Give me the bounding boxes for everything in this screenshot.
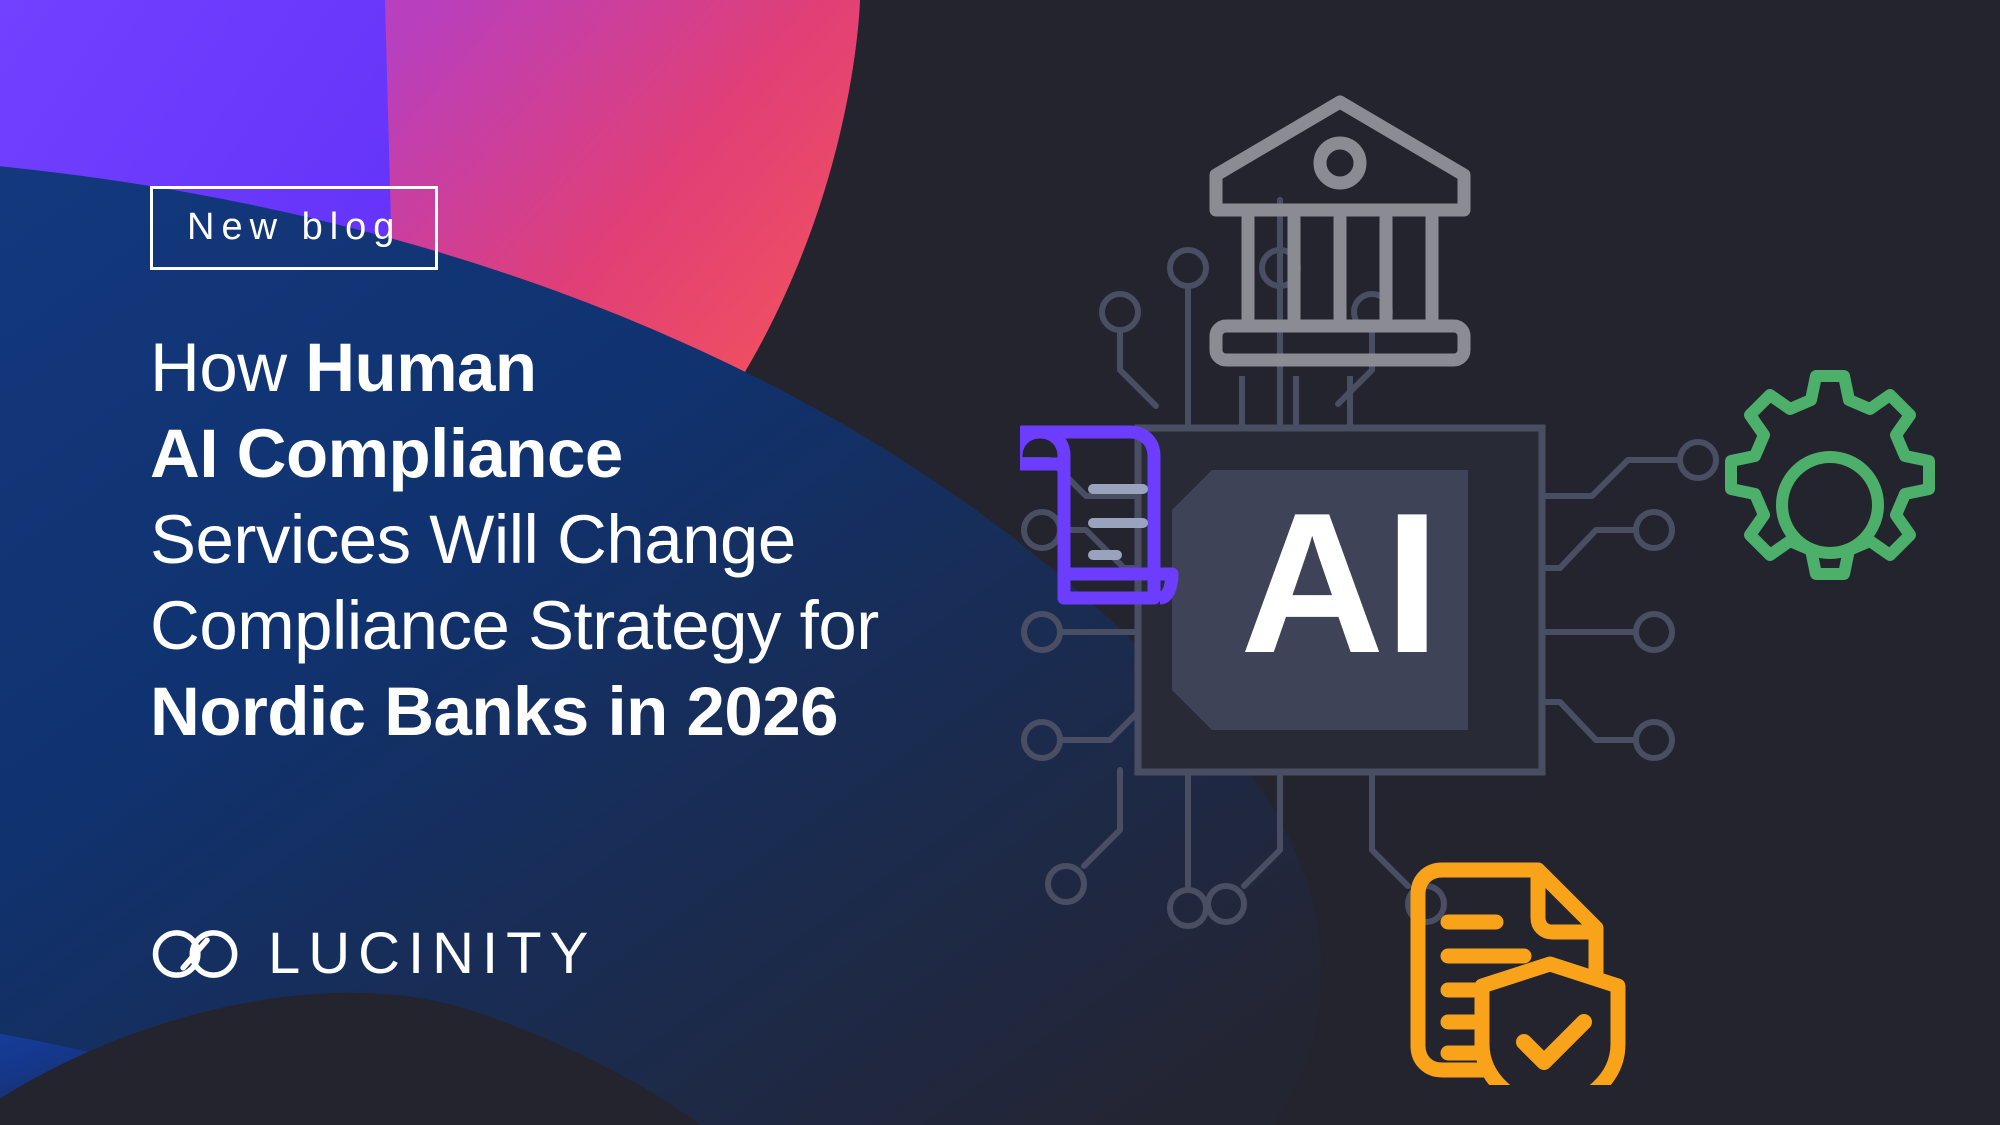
lucinity-logo: LUCINITY <box>150 925 596 983</box>
document-shield-icon <box>1418 870 1618 1085</box>
content-column: New blog How Human AI Compliance Service… <box>150 0 1050 1125</box>
bank-icon <box>1216 102 1464 360</box>
ai-compliance-illustration: AI <box>1020 40 2000 1085</box>
page-title: How Human AI Compliance Services Will Ch… <box>150 325 1010 755</box>
headline-line-1: How Human <box>150 325 1010 411</box>
ai-chip-icon: AI <box>1138 376 1542 772</box>
gear-icon <box>1731 376 1929 574</box>
headline-line-5: Nordic Banks in 2026 <box>150 669 1010 755</box>
new-blog-badge-label: New blog <box>187 208 401 246</box>
headline-seg: Human <box>305 329 536 406</box>
social-card: New blog How Human AI Compliance Service… <box>0 0 2000 1125</box>
headline-seg: Nordic Banks in 2026 <box>150 673 838 750</box>
headline-seg: Services Will Change <box>150 501 796 578</box>
headline-line-3: Services Will Change <box>150 497 1010 583</box>
ai-chip-label: AI <box>1240 472 1440 695</box>
headline-seg: Compliance Strategy for <box>150 587 879 664</box>
lucinity-infinity-mark <box>150 925 242 983</box>
headline-seg: How <box>150 329 305 406</box>
lucinity-wordmark: LUCINITY <box>268 925 596 983</box>
headline-line-4: Compliance Strategy for <box>150 583 1010 669</box>
headline-line-2: AI Compliance <box>150 411 1010 497</box>
headline-seg: AI Compliance <box>150 415 623 492</box>
new-blog-badge: New blog <box>150 186 438 270</box>
